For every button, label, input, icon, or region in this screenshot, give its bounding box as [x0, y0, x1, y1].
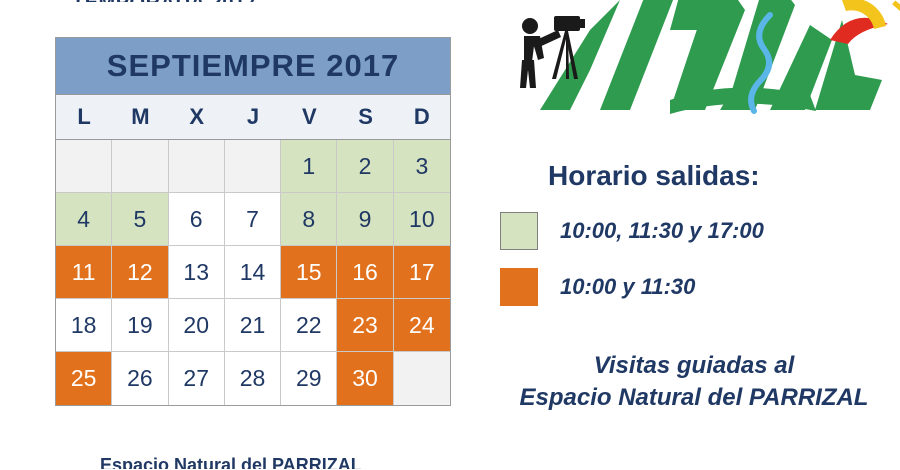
- calendar-day-2[interactable]: 2: [337, 140, 393, 193]
- guided-visits-line2: Espacio Natural del PARRIZAL: [492, 382, 896, 414]
- calendar-day-empty: [225, 140, 281, 193]
- calendar-day-6[interactable]: 6: [169, 193, 225, 246]
- parrizal-logo: [470, 0, 900, 145]
- legend-row-green: 10:00, 11:30 y 17:00: [500, 212, 764, 250]
- calendar-days-grid: 1234567891011121314151617181920212223242…: [56, 140, 450, 405]
- legend-swatch-green: [500, 212, 538, 250]
- guided-visits-text: Visitas guiadas al Espacio Natural del P…: [492, 350, 896, 414]
- calendar-day-empty: [394, 352, 450, 405]
- calendar-day-29[interactable]: 29: [281, 352, 337, 405]
- calendar-day-20[interactable]: 20: [169, 299, 225, 352]
- calendar-day-27[interactable]: 27: [169, 352, 225, 405]
- calendar-day-26[interactable]: 26: [112, 352, 168, 405]
- weekday-monday: L: [56, 95, 112, 139]
- legend-swatch-orange: [500, 268, 538, 306]
- calendar-day-30[interactable]: 30: [337, 352, 393, 405]
- calendar-day-8[interactable]: 8: [281, 193, 337, 246]
- calendar-day-9[interactable]: 9: [337, 193, 393, 246]
- schedule-legend: 10:00, 11:30 y 17:00 10:00 y 11:30: [500, 212, 764, 324]
- calendar-day-17[interactable]: 17: [394, 246, 450, 299]
- calendar-day-7[interactable]: 7: [225, 193, 281, 246]
- sun-icon: [823, 0, 900, 44]
- calendar-day-5[interactable]: 5: [112, 193, 168, 246]
- calendar-weekday-header: L M X J V S D: [56, 95, 450, 140]
- calendar-day-4[interactable]: 4: [56, 193, 112, 246]
- calendar-day-28[interactable]: 28: [225, 352, 281, 405]
- mountain-shapes: [540, 0, 882, 114]
- calendar: SEPTIEMPRE 2017 L M X J V S D 1234567891…: [55, 37, 451, 406]
- weekday-sunday: D: [394, 95, 450, 139]
- calendar-day-11[interactable]: 11: [56, 246, 112, 299]
- logo-artwork: [470, 0, 900, 145]
- legend-label-green: 10:00, 11:30 y 17:00: [560, 218, 764, 244]
- legend-row-orange: 10:00 y 11:30: [500, 268, 764, 306]
- calendar-day-empty: [169, 140, 225, 193]
- weekday-friday: V: [281, 95, 337, 139]
- calendar-day-empty: [112, 140, 168, 193]
- weekday-wednesday: X: [169, 95, 225, 139]
- calendar-day-15[interactable]: 15: [281, 246, 337, 299]
- weekday-thursday: J: [225, 95, 281, 139]
- calendar-day-22[interactable]: 22: [281, 299, 337, 352]
- calendar-day-16[interactable]: 16: [337, 246, 393, 299]
- calendar-day-21[interactable]: 21: [225, 299, 281, 352]
- calendar-day-12[interactable]: 12: [112, 246, 168, 299]
- calendar-day-18[interactable]: 18: [56, 299, 112, 352]
- calendar-title: SEPTIEMPRE 2017: [56, 38, 450, 95]
- photographer-icon: [520, 16, 585, 88]
- weekday-saturday: S: [337, 95, 393, 139]
- legend-label-orange: 10:00 y 11:30: [560, 274, 695, 300]
- cropped-bottom-text: Espacio Natural del PARRIZAL: [100, 455, 362, 469]
- cropped-top-heading: TEMPORADA 2017: [72, 0, 257, 2]
- calendar-day-empty: [56, 140, 112, 193]
- calendar-day-23[interactable]: 23: [337, 299, 393, 352]
- calendar-day-24[interactable]: 24: [394, 299, 450, 352]
- calendar-day-14[interactable]: 14: [225, 246, 281, 299]
- calendar-day-1[interactable]: 1: [281, 140, 337, 193]
- calendar-day-25[interactable]: 25: [56, 352, 112, 405]
- calendar-day-13[interactable]: 13: [169, 246, 225, 299]
- guided-visits-line1: Visitas guiadas al: [492, 350, 896, 382]
- calendar-day-19[interactable]: 19: [112, 299, 168, 352]
- schedule-heading: Horario salidas:: [548, 160, 760, 192]
- weekday-tuesday: M: [112, 95, 168, 139]
- calendar-day-3[interactable]: 3: [394, 140, 450, 193]
- calendar-day-10[interactable]: 10: [394, 193, 450, 246]
